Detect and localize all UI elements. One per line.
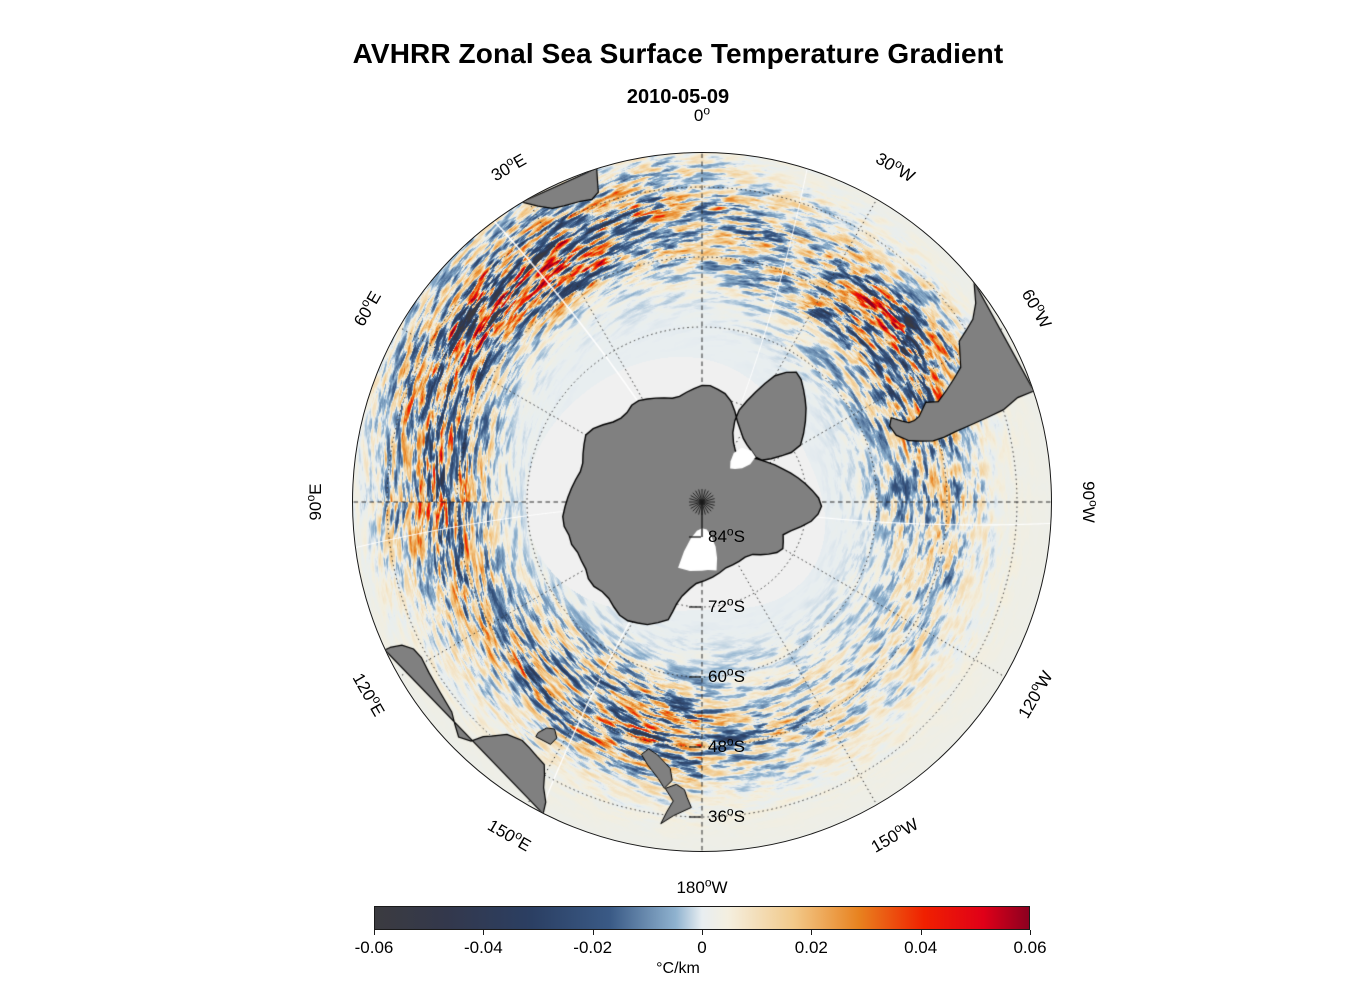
colorbar-tick-label: -0.04 (464, 938, 503, 958)
figure-canvas: AVHRR Zonal Sea Surface Temperature Grad… (0, 0, 1356, 1000)
colorbar-tick-label: 0.02 (795, 938, 828, 958)
latitude-label-72S: 72oS (708, 597, 745, 617)
colorbar-tick-label: -0.02 (573, 938, 612, 958)
colorbar-tick (702, 930, 703, 935)
colorbar-tick (921, 930, 922, 935)
figure-title: AVHRR Zonal Sea Surface Temperature Grad… (0, 38, 1356, 70)
colorbar-tick (593, 930, 594, 935)
longitude-label-180W: 180oW (676, 878, 727, 898)
latitude-label-36S: 36oS (708, 807, 745, 827)
colorbar-tick (1030, 930, 1031, 935)
latitude-label-84S: 84oS (708, 527, 745, 547)
longitude-label-00: 0o (694, 106, 710, 126)
longitude-label-90E: 90oE (306, 484, 326, 521)
colorbar-tick (374, 930, 375, 935)
longitude-label-90W: 90oW (1078, 481, 1098, 523)
polar-map[interactable] (352, 152, 1052, 852)
latitude-label-60S: 60oS (708, 667, 745, 687)
colorbar-unit-label: °C/km (0, 960, 1356, 978)
colorbar-tick-label: -0.06 (355, 938, 394, 958)
colorbar[interactable]: -0.06-0.04-0.0200.020.040.06 (374, 906, 1030, 930)
colorbar-gradient[interactable] (374, 906, 1030, 930)
colorbar-tick-label: 0.06 (1013, 938, 1046, 958)
colorbar-tick (811, 930, 812, 935)
sst-gradient-heatmap[interactable] (352, 152, 1052, 852)
colorbar-tick-label: 0.04 (904, 938, 937, 958)
latitude-label-48S: 48oS (708, 737, 745, 757)
figure-subtitle: 2010-05-09 (0, 86, 1356, 109)
colorbar-tick (483, 930, 484, 935)
colorbar-tick-label: 0 (697, 938, 706, 958)
